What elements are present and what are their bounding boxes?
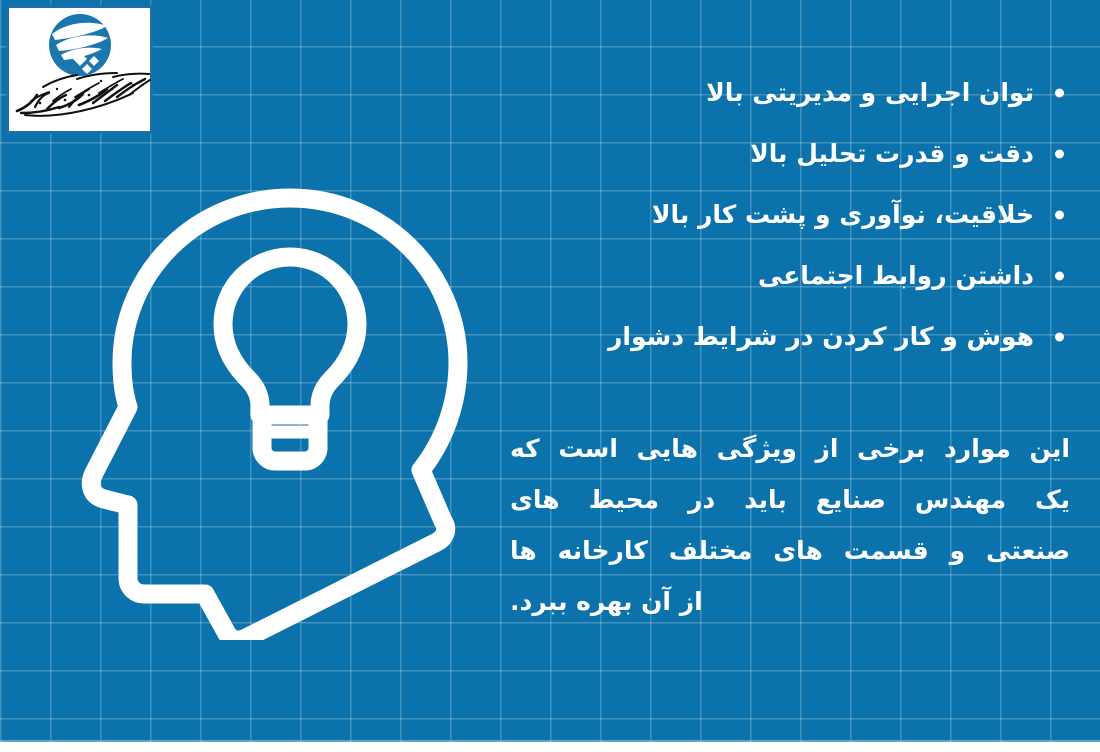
lightbulb-outline <box>223 257 357 415</box>
slide: توان اجرایی و مدیریتی بالا دقت و قدرت تح… <box>0 0 1100 752</box>
list-item: دقت و قدرت تحلیل بالا <box>510 123 1070 184</box>
list-item-label: دقت و قدرت تحلیل بالا <box>750 139 1034 168</box>
content-column: توان اجرایی و مدیریتی بالا دقت و قدرت تح… <box>510 62 1070 627</box>
bullet-marker-icon <box>1055 210 1064 219</box>
logo-calligraphy <box>13 67 153 123</box>
list-item: توان اجرایی و مدیریتی بالا <box>510 62 1070 123</box>
list-item: خلاقیت، نوآوری و پشت کار بالا <box>510 184 1070 245</box>
head-with-lightbulb-icon <box>66 160 486 640</box>
paragraph-line: از آن بهره ببرد. <box>510 576 1070 627</box>
bullet-marker-icon <box>1055 149 1064 158</box>
feature-list: توان اجرایی و مدیریتی بالا دقت و قدرت تح… <box>510 62 1070 367</box>
bullet-marker-icon <box>1055 271 1064 280</box>
list-item-label: خلاقیت، نوآوری و پشت کار بالا <box>652 200 1034 229</box>
list-item-label: داشتن روابط اجتماعی <box>758 261 1034 290</box>
paragraph-line: صنعتی و قسمت های مختلف کارخانه ها <box>510 525 1070 576</box>
logo-inner <box>9 8 150 131</box>
paragraph-line: این موارد برخی از ویژگی هایی است که <box>510 423 1070 474</box>
list-item: داشتن روابط اجتماعی <box>510 245 1070 306</box>
university-logo <box>6 5 153 134</box>
summary-paragraph: این موارد برخی از ویژگی هایی است که یک م… <box>510 423 1070 627</box>
list-item-label: هوش و کار کردن در شرایط دشوار <box>608 322 1034 351</box>
bullet-marker-icon <box>1055 88 1064 97</box>
paragraph-line: یک مهندس صنایع باید در محیط های <box>510 474 1070 525</box>
bullet-marker-icon <box>1055 332 1064 341</box>
list-item-label: توان اجرایی و مدیریتی بالا <box>706 78 1034 107</box>
list-item: هوش و کار کردن در شرایط دشوار <box>510 306 1070 367</box>
